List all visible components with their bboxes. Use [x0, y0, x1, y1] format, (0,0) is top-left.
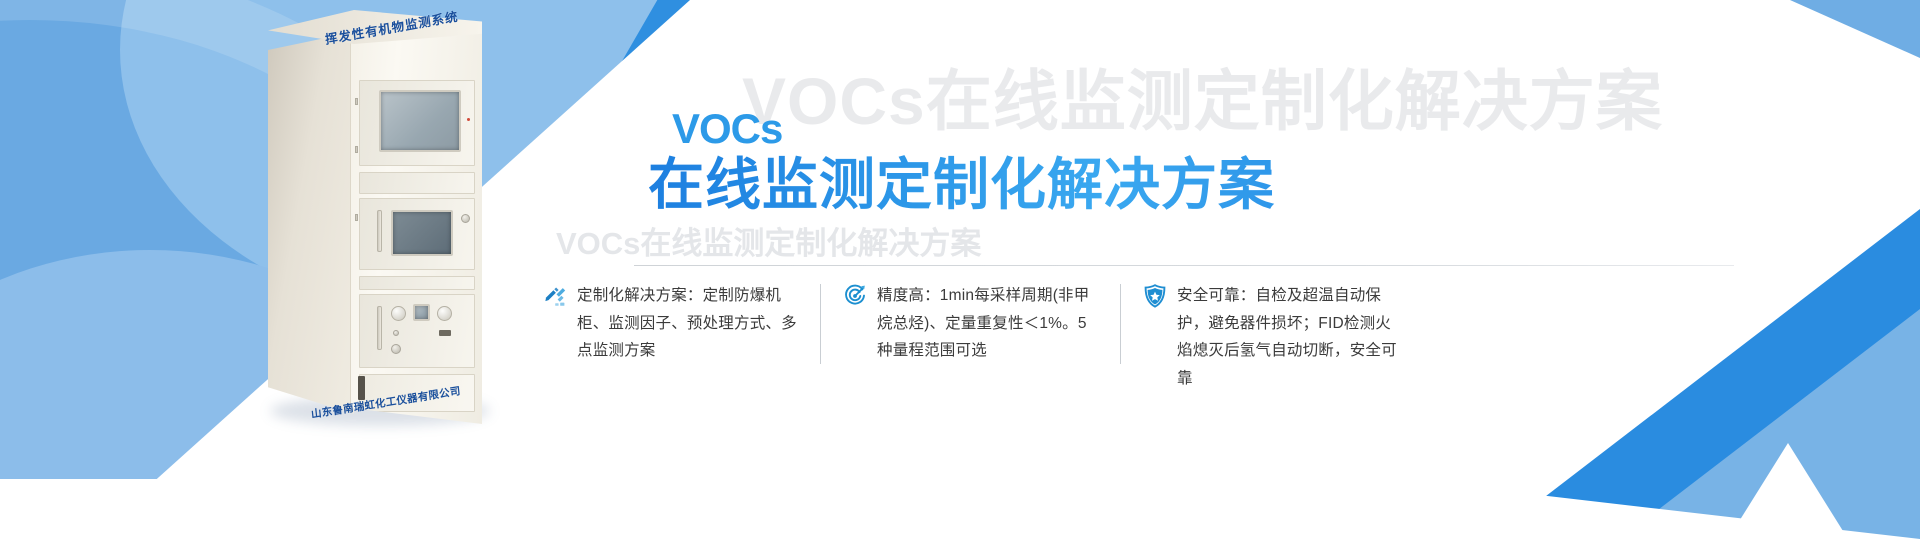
- headline-english: VOCs: [648, 108, 1408, 150]
- feature-item-safety: 安全可靠：自检及超温自动保护，避免器件损坏；FID检测火焰熄灭后氢气自动切断，安…: [1120, 282, 1422, 392]
- cabinet-knob-small-2: [391, 344, 401, 354]
- cabinet-knob-small-1: [393, 330, 399, 336]
- feature-text-safety: 安全可靠：自检及超温自动保护，避免器件损坏；FID检测火焰熄灭后氢气自动切断，安…: [1177, 282, 1400, 392]
- feature-item-customization: 定制化解决方案：定制防爆机柜、监测因子、预处理方式、多点监测方案: [520, 282, 820, 365]
- feature-item-accuracy: 精度高：1min每采样周期(非甲烷总烃)、定量重复性＜1%。5种量程范围可选: [820, 282, 1120, 365]
- feature-text-accuracy: 精度高：1min每采样周期(非甲烷总烃)、定量重复性＜1%。5种量程范围可选: [877, 282, 1098, 365]
- cabinet-hinge-3: [355, 214, 358, 221]
- pencil-ruler-icon: [542, 283, 568, 309]
- cabinet-hinge-2: [355, 146, 358, 153]
- watermark-headline-small: VOCs在线监测定制化解决方案: [556, 218, 981, 263]
- cabinet-side-panel: [268, 32, 354, 414]
- shield-star-icon: [1142, 283, 1168, 309]
- cabinet-knob-mid: [461, 214, 470, 223]
- product-photo-vocs-cabinet: 挥发性有机物监测系统 山东鲁南瑞虹化工仪器有限公司: [262, 4, 500, 434]
- cabinet-side-vent: [358, 376, 365, 400]
- cabinet-led-indicator: [467, 118, 470, 121]
- cabinet-gauge-right: [437, 306, 452, 321]
- cabinet-display-mid: [391, 210, 453, 256]
- headline-block: VOCs 在线监测定制化解决方案: [648, 108, 1408, 217]
- horizontal-divider: [634, 265, 1734, 266]
- feature-list: 定制化解决方案：定制防爆机柜、监测因子、预处理方式、多点监测方案 精度高：1mi…: [520, 282, 1810, 392]
- cabinet-port-slot: [439, 330, 451, 336]
- cabinet-door-handle-lower: [377, 306, 382, 350]
- cabinet-gauge-left: [391, 306, 406, 321]
- cabinet-window-upper: [379, 90, 461, 152]
- cabinet-meter-center: [413, 304, 430, 321]
- cabinet-module-strip-2: [359, 276, 475, 290]
- vocs-promo-banner: 挥发性有机物监测系统 山东鲁南瑞虹化工仪器有限公司 VOCs在线监测定制化解决方…: [0, 0, 1920, 539]
- cabinet-hinge-1: [355, 98, 358, 105]
- headline-chinese: 在线监测定制化解决方案: [648, 154, 1408, 217]
- target-arrow-icon: [842, 283, 868, 309]
- feature-text-customization: 定制化解决方案：定制防爆机柜、监测因子、预处理方式、多点监测方案: [577, 282, 798, 365]
- cabinet-module-strip-1: [359, 172, 475, 194]
- cabinet-door-handle-mid: [377, 210, 382, 252]
- cabinet-front-panel: [350, 18, 482, 424]
